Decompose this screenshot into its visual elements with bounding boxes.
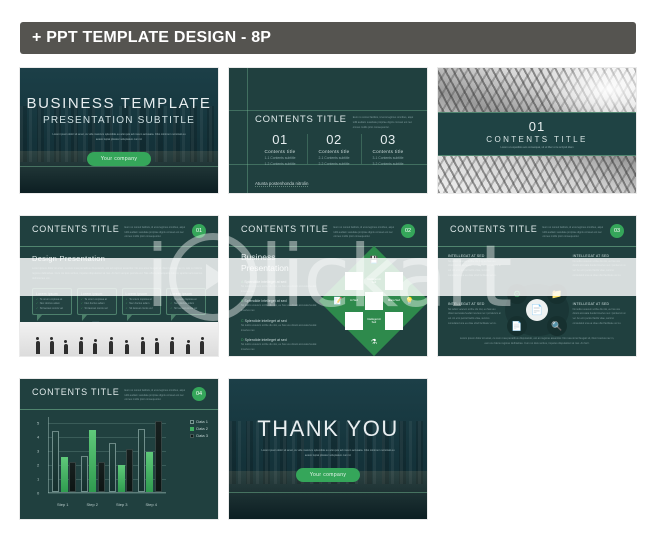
- column-subtitle: 3-2 Contents subtitle: [361, 162, 415, 166]
- slide-header: CONTENTS TITLE Eum no consul facilisis, …: [20, 387, 218, 409]
- bubble-tail: [37, 315, 42, 321]
- item-body: No iudico veterem scribe diu nisi, eu ha…: [241, 343, 323, 353]
- legend-item: Data 1: [190, 419, 208, 424]
- bar-group: [107, 417, 136, 492]
- quadrant-title: INTELLEGAT AT SED: [448, 302, 501, 306]
- tile-white: [345, 312, 363, 330]
- slide-thumb-chart[interactable]: CONTENTS TITLE Eum no consul facilisis, …: [20, 379, 218, 519]
- hub-body: INTELLEGAT AT SED No iudico veterem scri…: [448, 250, 626, 350]
- header-filler-text: Eum no consul facilisis, id eros legimus…: [125, 387, 187, 403]
- quadrant-text: INTELLEGAT AT SED No iudico veterem scri…: [448, 302, 501, 326]
- contents-heading: CONTENTS TITLE: [255, 114, 347, 125]
- bar: [61, 457, 68, 492]
- bar: [89, 430, 96, 493]
- legend-swatch: [190, 434, 194, 438]
- thanks-slide-content: THANK YOU Lorem ipsum dolor sit amet, cu…: [229, 379, 427, 519]
- header-rule: [229, 246, 427, 247]
- slide-heading: CONTENTS TITLE: [241, 224, 329, 234]
- header-filler-text: Eum no consul facilisis, id eros legimus…: [125, 224, 187, 240]
- diagram-text-column: Business Presentation A Splendide intell…: [241, 252, 323, 350]
- tile-label: At Sed: [345, 292, 363, 310]
- document-copy-icon: 📄: [507, 316, 527, 336]
- y-axis: [48, 417, 49, 493]
- bar: [146, 452, 153, 492]
- tile-label: Intelleget At Sed: [365, 312, 383, 330]
- column-number: 01: [253, 132, 307, 147]
- column-subtitle: 2-1 Contents subtitle: [307, 156, 361, 160]
- gears-icon: ⚙: [507, 284, 527, 304]
- quadrant-body: No iudico veterem scribe diu nisi, eu ha…: [448, 260, 501, 279]
- legend-label: Data 3: [196, 433, 208, 438]
- y-axis-tick-label: 3: [37, 448, 39, 453]
- bubble-line: Te unum copiosa at: [81, 298, 113, 301]
- slide-number-badge: 01: [192, 224, 206, 238]
- slide-heading: CONTENTS TITLE: [32, 387, 120, 397]
- legend-swatch: [190, 427, 194, 431]
- quadrant-title: INTELLEGAT AT SED: [573, 302, 626, 306]
- bubble-line: Te unum copiosa at: [126, 298, 158, 301]
- lettered-item: C Splendide intelleget at sed No iudico …: [241, 319, 323, 334]
- bar: [118, 465, 125, 492]
- bubble-line: Nec doctus adam: [170, 302, 202, 305]
- horizontal-rule-top: [229, 110, 427, 111]
- y-axis-tick-label: 0: [37, 491, 39, 496]
- tile-label: Intelleget At Sed: [365, 272, 383, 290]
- header-rule: [20, 246, 218, 247]
- bubble-line: Nec doctus adam: [81, 302, 113, 305]
- bar: [81, 456, 88, 492]
- callout-bubble: Lorem ipsum Te unum copiosa at Nec doctu…: [166, 288, 206, 315]
- section-paragraph: Lorem ipsum dolor sit amet, cu cum mea p…: [32, 266, 206, 281]
- header-rule: [20, 409, 218, 410]
- divider-band: 01 CONTENTS TITLE Lorem ut expeditos eos…: [438, 112, 636, 156]
- legend-label: Data 2: [196, 426, 208, 431]
- hub-footer: Lorem ipsum dolor sit amet, cu cum mea p…: [458, 336, 616, 346]
- your-company-button[interactable]: Your company: [87, 152, 152, 166]
- lettered-item: A Splendide intelleget at sed No iudico …: [241, 280, 323, 295]
- gridline: [48, 493, 166, 494]
- legend-label: Data 1: [196, 419, 208, 424]
- bubble-tail: [127, 315, 132, 321]
- quadrant-text: INTELLEGAT AT SED No iudico veterem scri…: [573, 254, 626, 278]
- slide-number-badge: 02: [401, 224, 415, 238]
- edit-icon: 📝: [334, 297, 343, 305]
- bar: [52, 431, 59, 492]
- page-title-bar: + PPT TEMPLATE DESIGN - 8P: [20, 22, 636, 54]
- quadrant-body: No iudico veterem scribe diu nisi, eu ha…: [573, 260, 626, 279]
- vertical-rule: [247, 68, 248, 193]
- bubble-line: Nec doctus adam: [36, 302, 68, 305]
- y-axis-tick-label: 1: [37, 476, 39, 481]
- bubble-tail: [171, 315, 176, 321]
- slide-heading: CONTENTS TITLE: [450, 224, 538, 234]
- contents-slide-content: CONTENTS TITLE Eum no consul facilisis, …: [229, 68, 427, 193]
- thanks-title: THANK YOU: [257, 416, 398, 442]
- item-letter: D: [241, 338, 244, 342]
- header-filler-text: Eum no consul facilisis, id eros legimus…: [334, 224, 396, 240]
- slide-row-3: CONTENTS TITLE Eum no consul facilisis, …: [20, 379, 636, 519]
- item-letter: A: [241, 280, 243, 284]
- quadrant-body: No iudico veterem scribe diu nisi, eu ha…: [448, 308, 501, 327]
- bubble-title: Lorem ipsum: [36, 292, 68, 296]
- slide-thumb-diagram[interactable]: CONTENTS TITLE Eum no consul facilisis, …: [229, 216, 427, 356]
- contents-footer: Atunta postenhonda nitrolin Ut lorem ips…: [255, 172, 415, 193]
- lettered-item: B Splendide intelleget at sed No iudico …: [241, 299, 323, 314]
- item-body: No iudico veterem scribe diu nisi, eu ha…: [241, 304, 323, 314]
- column-number: 02: [307, 132, 361, 147]
- footer-title: Atunta postenhonda nitrolin: [255, 181, 308, 187]
- column-subtitle: 1-1 Contents subtitle: [253, 156, 307, 160]
- y-axis-tick-label: 2: [37, 462, 39, 467]
- contents-filler-text: Eum no consul facilisis, id eros legimus…: [353, 114, 417, 130]
- item-title: Splendide intelleget at sed: [244, 280, 286, 284]
- slide-thumb-hub[interactable]: CONTENTS TITLE Eum no consul facilisis, …: [438, 216, 636, 356]
- callout-bubble: Lorem ipsum Te unum copiosa at Nec doctu…: [77, 288, 117, 315]
- slide-thumb-divider[interactable]: 01 CONTENTS TITLE Lorem ut expeditos eos…: [438, 68, 636, 193]
- quadrant-title: INTELLEGAT AT SED: [573, 254, 626, 258]
- item-body: No iudico veterem scribe diu nisi, eu ha…: [241, 324, 323, 334]
- header-filler-text: Eum no consul facilisis, id eros legimus…: [543, 224, 605, 240]
- bubble-line: Sit laoreet comis vel: [81, 307, 113, 310]
- slide-header: CONTENTS TITLE Eum no consul facilisis, …: [20, 224, 218, 246]
- diamond-tile-grid: Intelleget At Sed At Sed Blana Sed Intel…: [345, 272, 403, 330]
- bar: [98, 462, 105, 492]
- bubble-line: Nec doctus adam: [126, 302, 158, 305]
- bubble-line: Sit laoreet comis vel: [126, 307, 158, 310]
- contents-column: 02 Contents title 2-1 Contents subtitle …: [307, 132, 361, 166]
- quadrant-title: INTELLEGAT AT SED: [448, 254, 501, 258]
- slide-grid: BUSINESS TEMPLATE PRESENTATION SUBTITLE …: [20, 68, 636, 542]
- section-subheading: Business Presentation: [241, 252, 323, 275]
- slide-thumb-contents[interactable]: CONTENTS TITLE Eum no consul facilisis, …: [229, 68, 427, 193]
- column-caption: Contents title: [253, 149, 307, 154]
- bulb-icon: 💡: [405, 297, 414, 305]
- template-preview-page: + PPT TEMPLATE DESIGN - 8P BUSINESS TEMP…: [0, 0, 656, 554]
- x-axis-tick-label: Step 3: [107, 502, 137, 507]
- column-number: 03: [361, 132, 415, 147]
- item-title: Splendide intelleget at sed: [244, 299, 286, 303]
- item-title: Splendide intelleget at sed: [245, 319, 287, 323]
- bubble-line: Te unum copiosa at: [36, 298, 68, 301]
- diamond-diagram[interactable]: 💾 📝 💡 ⚗ Intelleget At Sed At Sed Blana S…: [329, 252, 419, 350]
- title-slide-content: BUSINESS TEMPLATE PRESENTATION SUBTITLE …: [20, 68, 218, 193]
- slide-title: BUSINESS TEMPLATE: [26, 95, 211, 112]
- tile-white: [385, 272, 403, 290]
- column-caption: Contents title: [307, 149, 361, 154]
- header-rule: [438, 246, 636, 247]
- item-letter: C: [241, 319, 244, 323]
- y-axis-tick-label: 4: [37, 434, 39, 439]
- bar-group: [50, 417, 79, 492]
- contents-column: 03 Contents title 3-1 Contents subtitle …: [361, 132, 415, 166]
- divider-line: [20, 166, 218, 167]
- item-title: Splendide intelleget at sed: [245, 338, 287, 342]
- contents-header: CONTENTS TITLE Eum no consul facilisis, …: [255, 114, 417, 130]
- slide-heading: CONTENTS TITLE: [32, 224, 120, 234]
- bar: [126, 449, 133, 492]
- bubble-title: Lorem ipsum: [126, 292, 158, 296]
- bubble-title: Lorem ipsum: [81, 292, 113, 296]
- slide-row-2: CONTENTS TITLE Eum no consul facilisis, …: [20, 216, 636, 356]
- slide-slot-empty: [438, 379, 636, 519]
- bar: [138, 429, 145, 492]
- legend-item: Data 3: [190, 433, 208, 438]
- tile-label: Blana Sed: [385, 292, 403, 310]
- slide-row-1: BUSINESS TEMPLATE PRESENTATION SUBTITLE …: [20, 68, 636, 193]
- chart-area: 012345 Step 1Step 2Step 3Step 4 Data 1 D…: [30, 413, 212, 513]
- flask-icon: ⚗: [371, 338, 377, 346]
- lettered-item: D Splendide intelleget at sed No iudico …: [241, 338, 323, 353]
- divider-subtitle: Lorem ut expeditos eos consequat, sit ut…: [500, 146, 573, 149]
- bar: [109, 443, 116, 492]
- quadrant-text: INTELLEGAT AT SED No iudico veterem scri…: [573, 302, 626, 326]
- slide-thumb-timeline[interactable]: CONTENTS TITLE Eum no consul facilisis, …: [20, 216, 218, 356]
- quadrant-text: INTELLEGAT AT SED No iudico veterem scri…: [448, 254, 501, 278]
- bar: [69, 462, 76, 492]
- your-company-button[interactable]: Your company: [296, 468, 361, 482]
- bubble-line: Te unum copiosa at: [170, 298, 202, 301]
- page-title: + PPT TEMPLATE DESIGN - 8P: [20, 29, 271, 47]
- bar: [155, 421, 162, 492]
- contents-columns: 01 Contents title 1-1 Contents subtitle …: [253, 132, 415, 166]
- callout-bubble: Lorem ipsum Te unum copiosa at Nec doctu…: [122, 288, 162, 315]
- bar-chart-plot: 012345: [48, 417, 166, 493]
- legend-swatch: [190, 420, 194, 424]
- x-axis-tick-label: Step 4: [137, 502, 167, 507]
- column-subtitle: 3-1 Contents subtitle: [361, 156, 415, 160]
- legend-item: Data 2: [190, 426, 208, 431]
- slide-number-badge: 03: [610, 224, 624, 238]
- column-subtitle: 1-2 Contents subtitle: [253, 162, 307, 166]
- tile-white: [365, 292, 383, 310]
- bar-group: [136, 417, 165, 492]
- section-subheading: Design Presentation: [32, 254, 206, 263]
- slide-header: CONTENTS TITLE Eum no consul facilisis, …: [229, 224, 427, 246]
- x-axis-tick-label: Step 2: [78, 502, 108, 507]
- item-body: No iudico veterem scribe diu nisi, eu ha…: [241, 285, 323, 295]
- y-axis-tick-label: 5: [37, 420, 39, 425]
- bubble-line: Sit laoreet comis vel: [170, 307, 202, 310]
- people-photo: [20, 322, 218, 356]
- column-caption: Contents title: [361, 149, 415, 154]
- divider-line: [229, 492, 427, 493]
- callout-bubble: Lorem ipsum Te unum copiosa at Nec doctu…: [32, 288, 72, 315]
- divider-caption: CONTENTS TITLE: [486, 135, 587, 144]
- slide-number-badge: 04: [192, 387, 206, 401]
- quadrant-body: No iudico veterem scribe diu nisi, eu ha…: [573, 308, 626, 327]
- save-icon: 💾: [370, 256, 379, 264]
- slide-thumb-thanks[interactable]: THANK YOU Lorem ipsum dolor sit amet, cu…: [229, 379, 427, 519]
- bubble-line: Sit laoreet comis vel: [36, 307, 68, 310]
- bar-groups: [50, 417, 164, 492]
- contents-column: 01 Contents title 1-1 Contents subtitle …: [253, 132, 307, 166]
- hub-diagram[interactable]: ⚙ 📁 📄 🔍 📄: [505, 284, 569, 336]
- tile-white: [385, 312, 403, 330]
- column-subtitle: 2-2 Contents subtitle: [307, 162, 361, 166]
- bubble-title: Lorem ipsum: [170, 292, 202, 296]
- chart-legend: Data 1 Data 2 Data 3: [190, 419, 208, 440]
- slide-body-text: Lorem ipsum dolor sit amet, cu vide maio…: [52, 133, 187, 143]
- slide-thumb-title[interactable]: BUSINESS TEMPLATE PRESENTATION SUBTITLE …: [20, 68, 218, 193]
- x-axis-labels: Step 1Step 2Step 3Step 4: [48, 502, 166, 507]
- thanks-body: Lorem ipsum dolor sit amet, cu vide maio…: [261, 449, 396, 459]
- bar-group: [79, 417, 108, 492]
- slide-subtitle: PRESENTATION SUBTITLE: [43, 115, 195, 126]
- document-lock-icon: 📄: [526, 299, 548, 321]
- folder-search-icon: 🔍: [547, 316, 567, 336]
- tile-white: [345, 272, 363, 290]
- folder-icon: 📁: [547, 284, 567, 304]
- slide-header: CONTENTS TITLE Eum no consul facilisis, …: [438, 224, 636, 246]
- x-axis-tick-label: Step 1: [48, 502, 78, 507]
- diagram-body: Business Presentation A Splendide intell…: [241, 252, 419, 350]
- bubble-tail: [82, 315, 87, 321]
- divider-number: 01: [529, 119, 545, 134]
